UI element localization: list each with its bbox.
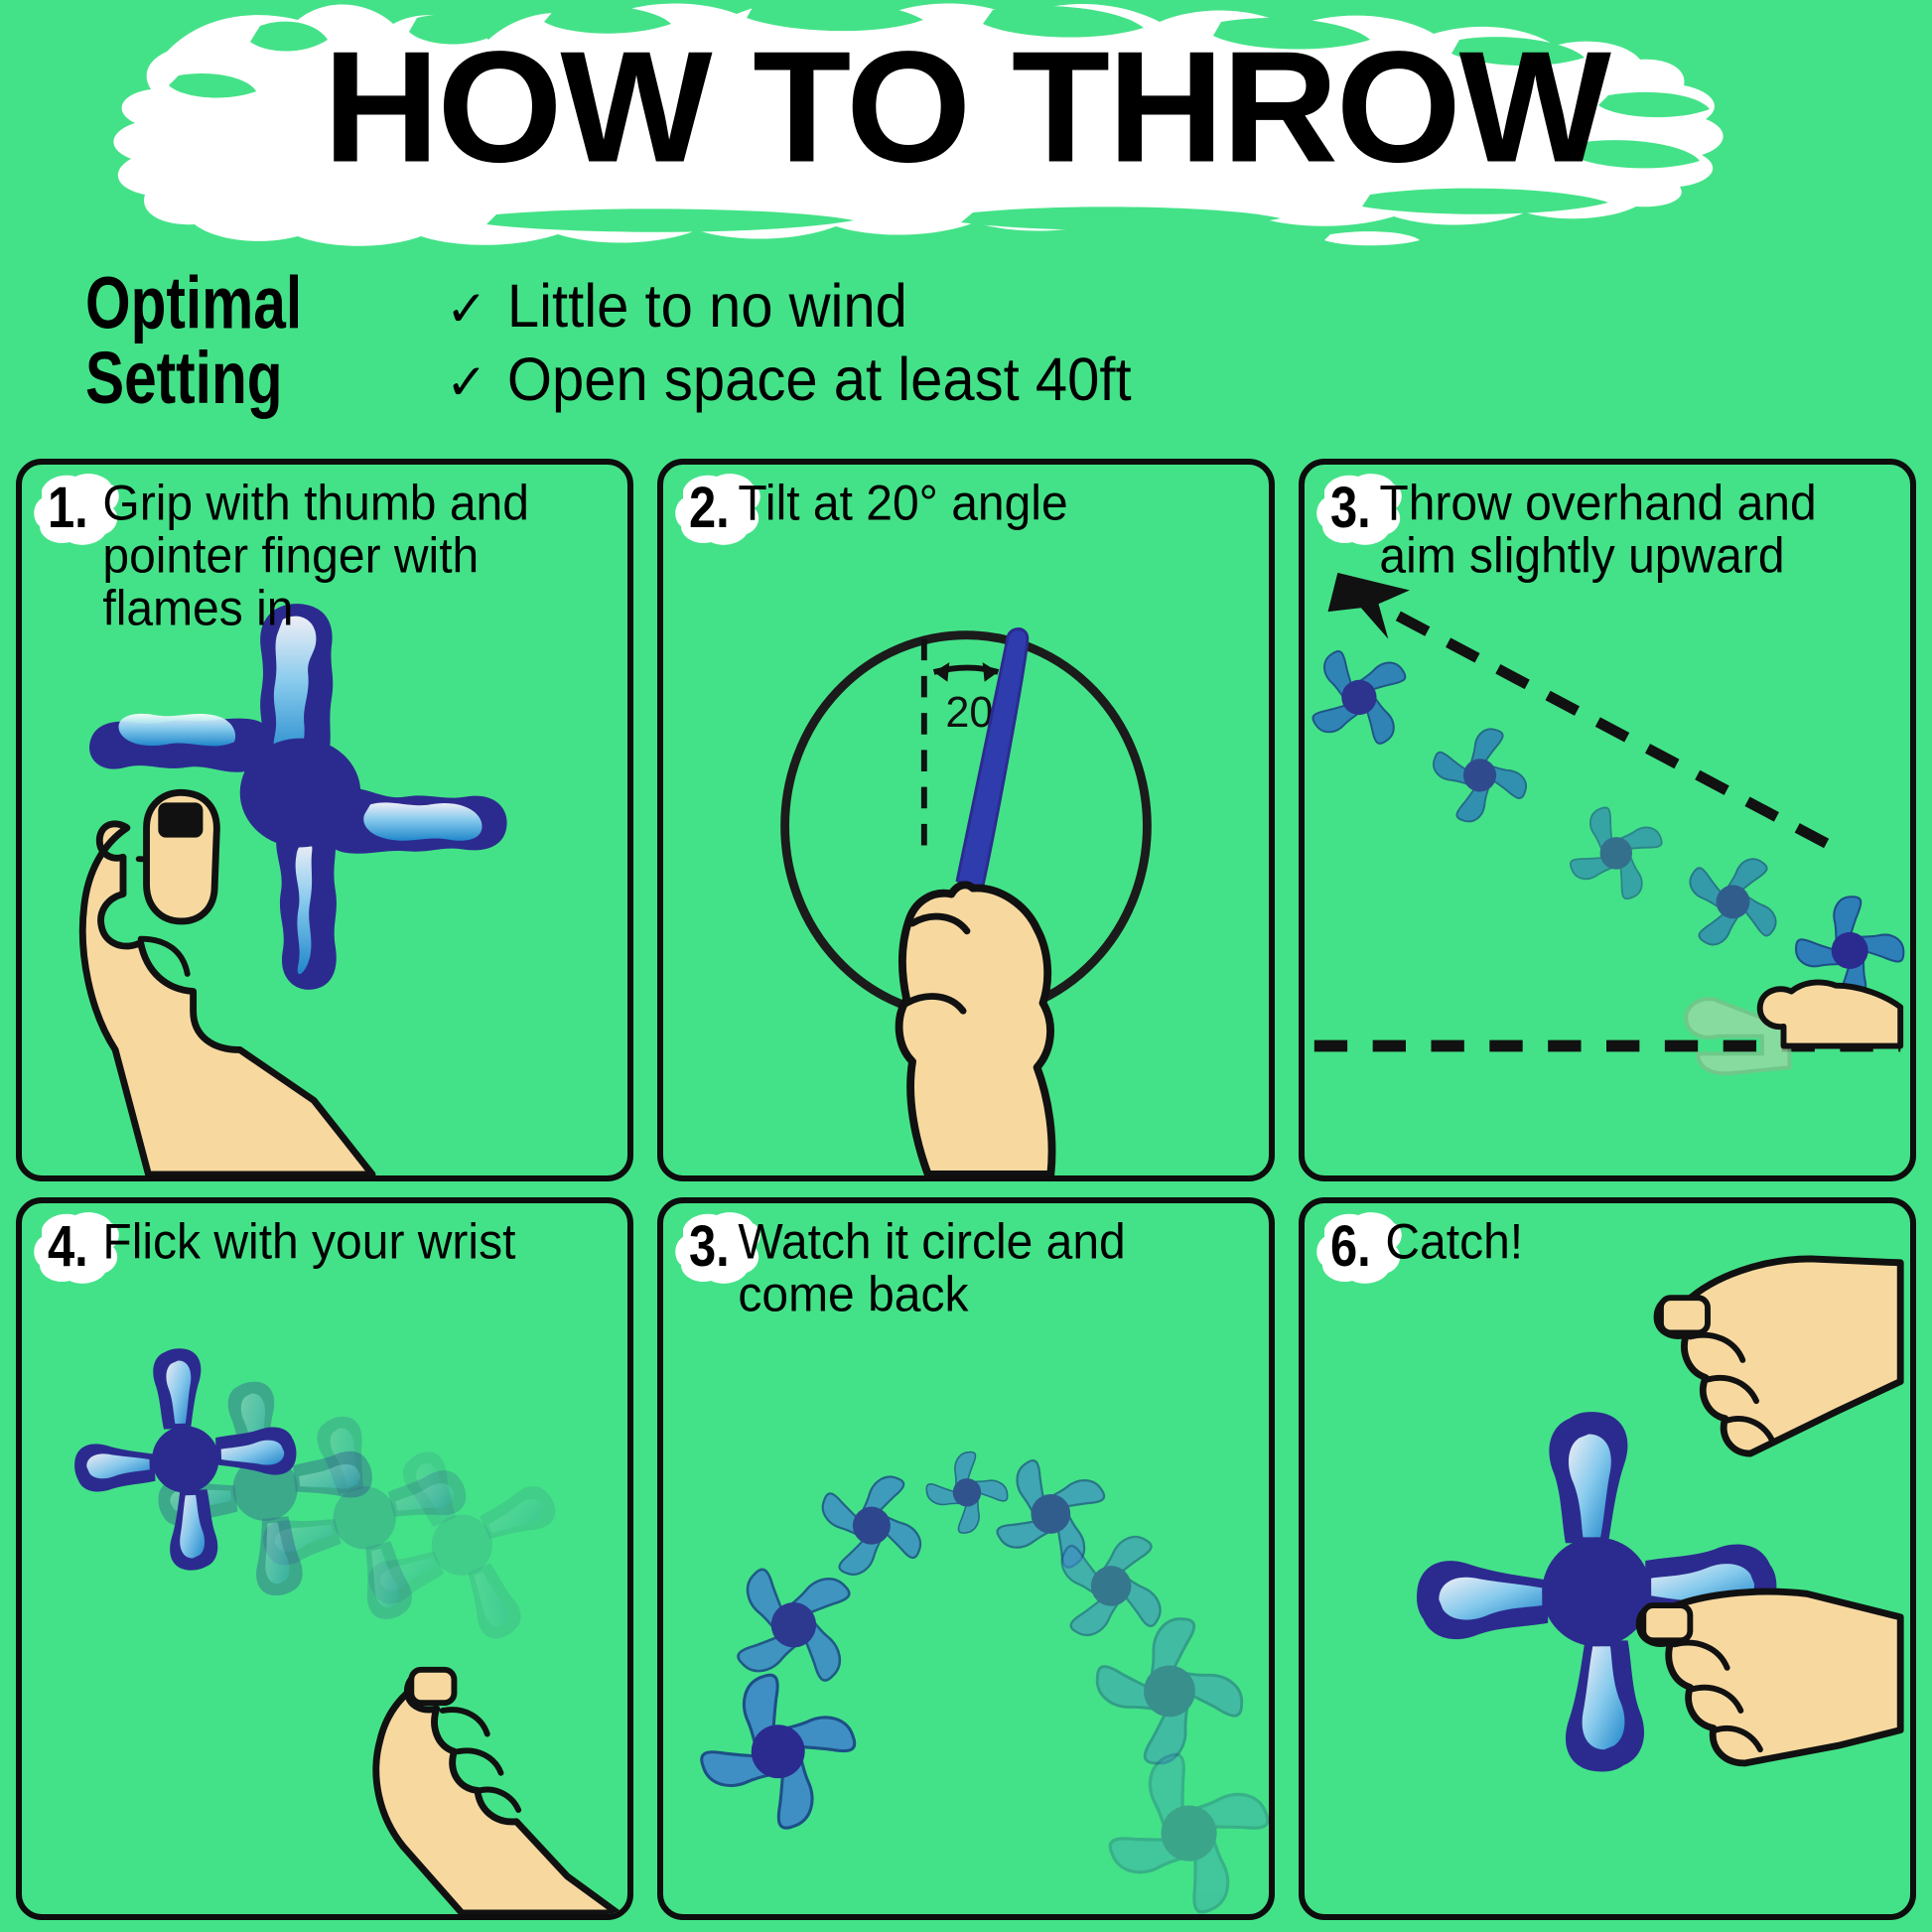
- step-6-number: 6.: [1330, 1213, 1371, 1280]
- optimal-heading-line-2: Setting: [85, 342, 404, 417]
- art-wrist-flick-motion: [22, 1203, 627, 1914]
- step-4-number-wrap: 4.: [44, 1217, 94, 1277]
- optimal-setting-block: Optimal Setting ✓ Little to no wind ✓ Op…: [85, 266, 1575, 415]
- step-1-number-wrap: 1.: [44, 479, 94, 538]
- check-icon: ✓: [446, 277, 487, 341]
- step-5-title: Watch it circle and come back: [738, 1217, 1214, 1322]
- step-panel-2: 2. Tilt at 20° angle 20˚: [657, 459, 1275, 1181]
- throwing-hand: [1686, 982, 1900, 1073]
- step-2-number-wrap: 2.: [685, 479, 736, 538]
- optimal-setting-list: ✓ Little to no wind ✓ Open space at leas…: [446, 266, 1132, 417]
- catching-hand-lower: [1639, 1591, 1900, 1763]
- boomerang-graphic: [82, 604, 506, 1174]
- step-panel-6: 6. Catch!: [1299, 1197, 1916, 1920]
- step-panel-1: 1. Grip with thumb and pointer finger wi…: [16, 459, 633, 1181]
- motion-ghost-trail: [147, 1370, 596, 1678]
- step-3-number: 3.: [1330, 475, 1371, 541]
- optimal-setting-heading: Optimal Setting: [85, 266, 404, 417]
- flicking-hand: [376, 1670, 618, 1913]
- step-6-title: Catch!: [1385, 1217, 1523, 1270]
- page-title: HOW TO THROW: [0, 28, 1932, 187]
- boomerang-circle-trail: [699, 1445, 1269, 1914]
- step-6-header: 6. Catch!: [1326, 1217, 1900, 1277]
- art-tilt-angle-diagram: 20˚: [663, 465, 1269, 1175]
- step-3-number-wrap: 3.: [1326, 479, 1377, 538]
- step-3-title: Throw overhand and aim slightly upward: [1379, 479, 1856, 584]
- step-4-title: Flick with your wrist: [102, 1217, 515, 1270]
- step-2-header: 2. Tilt at 20° angle: [685, 479, 1259, 538]
- step-panel-4: 4. Flick with your wrist: [16, 1197, 633, 1920]
- check-icon: ✓: [446, 350, 487, 414]
- step-1-header: 1. Grip with thumb and pointer finger wi…: [44, 479, 618, 630]
- step-2-title: Tilt at 20° angle: [738, 479, 1067, 531]
- steps-grid: 1. Grip with thumb and pointer finger wi…: [16, 459, 1916, 1920]
- step-1-title: Grip with thumb and pointer finger with …: [102, 479, 579, 636]
- optimal-item-label: Little to no wind: [507, 268, 907, 346]
- step-2-number: 2.: [689, 475, 730, 541]
- step-1-number: 1.: [48, 475, 88, 541]
- optimal-item-label: Open space at least 40ft: [507, 342, 1132, 420]
- step-5-number: 3.: [689, 1213, 730, 1280]
- boomerang-trail: [1305, 631, 1910, 1015]
- optimal-item-wind: ✓ Little to no wind: [446, 270, 1132, 344]
- step-5-number-wrap: 3.: [685, 1217, 736, 1277]
- step-5-header: 3. Watch it circle and come back: [685, 1217, 1259, 1318]
- catching-hand-upper: [1657, 1259, 1900, 1453]
- fist-holding-stick: [899, 885, 1052, 1174]
- step-4-header: 4. Flick with your wrist: [44, 1217, 618, 1277]
- step-panel-5: 3. Watch it circle and come back: [657, 1197, 1275, 1920]
- optimal-item-space: ✓ Open space at least 40ft: [446, 344, 1132, 417]
- optimal-heading-line-1: Optimal: [85, 266, 404, 342]
- step-3-header: 3. Throw overhand and aim slightly upwar…: [1326, 479, 1900, 580]
- step-6-number-wrap: 6.: [1326, 1217, 1377, 1277]
- art-catching-hands: [1305, 1203, 1910, 1914]
- title-banner: HOW TO THROW: [0, 0, 1932, 248]
- step-panel-3: 3. Throw overhand and aim slightly upwar…: [1299, 459, 1916, 1181]
- step-4-number: 4.: [48, 1213, 88, 1280]
